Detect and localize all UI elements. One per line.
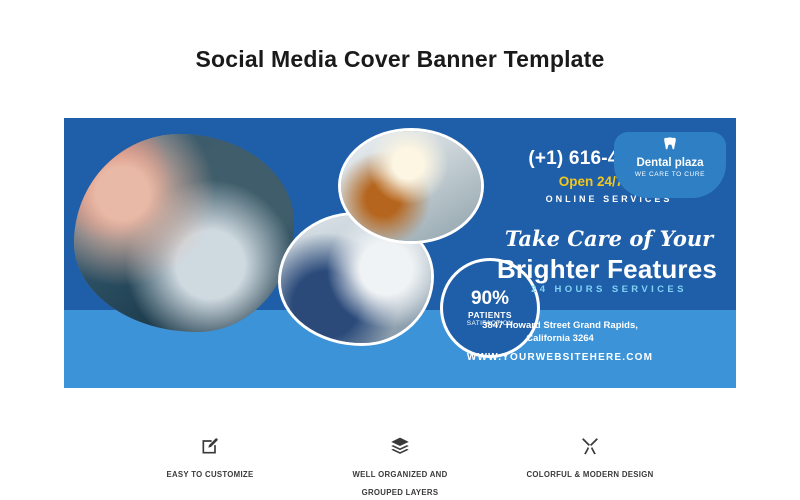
- logo-badge: Dental plaza WE CARE TO CURE: [614, 132, 726, 198]
- logo-tagline: WE CARE TO CURE: [614, 171, 726, 178]
- badge-line1: PATIENTS: [468, 311, 512, 320]
- surgery-team-image: [74, 134, 294, 332]
- logo-name: Dental plaza: [614, 157, 726, 169]
- feature-label: COLORFUL & MODERN DESIGN: [526, 470, 653, 479]
- tooth-icon: [614, 136, 726, 156]
- headline-script: Take Care of Your: [484, 226, 734, 251]
- dental-lab-photo: [338, 128, 484, 244]
- page-root: Social Media Cover Banner Template 90% P…: [0, 0, 800, 500]
- feature-label-line-2: GROUPED LAYERS: [362, 488, 439, 497]
- headline-sub: 24 HOURS SERVICES: [484, 284, 734, 295]
- address-line-1: 3847 Howard Street Grand Rapids,: [394, 320, 726, 333]
- feature-item: WELL ORGANIZED AND GROUPED LAYERS: [310, 436, 490, 500]
- feature-list: EASY TO CUSTOMIZE WELL ORGANIZED AND GRO…: [120, 436, 680, 500]
- address-line-2: California 3264: [394, 333, 726, 346]
- feature-item: COLORFUL & MODERN DESIGN: [500, 436, 680, 500]
- pencil-square-icon: [120, 436, 300, 458]
- paint-tools-icon: [500, 436, 680, 458]
- feature-item: EASY TO CUSTOMIZE: [120, 436, 300, 500]
- page-title: Social Media Cover Banner Template: [0, 46, 800, 73]
- dental-lab-image: [341, 131, 481, 241]
- address: 3847 Howard Street Grand Rapids, Califor…: [394, 320, 726, 346]
- feature-label: WELL ORGANIZED AND GROUPED LAYERS: [352, 470, 447, 497]
- photo-cluster: [64, 118, 484, 340]
- cover-banner: 90% PATIENTS SATIFACTION (+1) 616-498-83…: [64, 118, 736, 388]
- headline-bold: Brighter Features: [478, 254, 736, 285]
- website-url: WWW.YOURWEBSITEHERE.COM: [394, 352, 726, 363]
- surgery-team-photo: [74, 134, 294, 332]
- feature-label: EASY TO CUSTOMIZE: [167, 470, 254, 479]
- feature-label-line-1: WELL ORGANIZED AND: [352, 470, 447, 479]
- layers-icon: [310, 436, 490, 458]
